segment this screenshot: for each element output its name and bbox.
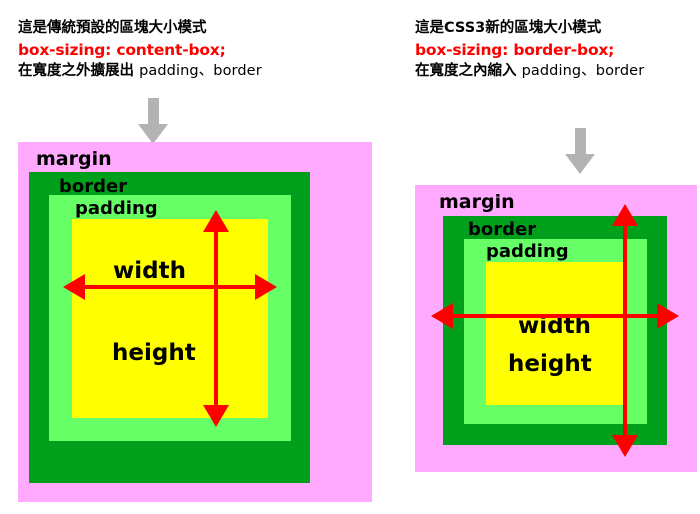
- caption-line-3: 在寬度之外擴展出 padding、border: [18, 61, 262, 82]
- border-label: border: [59, 178, 127, 196]
- margin-label: margin: [36, 150, 112, 169]
- gray-down-arrow-icon: [138, 98, 168, 144]
- border-box: border padding: [29, 172, 310, 483]
- height-label: height: [508, 353, 592, 376]
- caption-line-3-en: padding、border: [139, 63, 262, 79]
- height-label: height: [112, 342, 196, 365]
- arrow-head: [138, 124, 168, 144]
- panel-content-box: 這是傳統預設的區塊大小模式 box-sizing: content-box; 在…: [0, 0, 400, 514]
- height-arrow-line: [623, 214, 627, 447]
- margin-box: margin border padding: [18, 142, 372, 502]
- caption-code-declaration: box-sizing: content-box;: [18, 39, 262, 61]
- height-measure-arrow: [201, 210, 231, 427]
- content-box: width height: [72, 219, 268, 418]
- arrow-shaft: [148, 98, 159, 126]
- caption-border-box: 這是CSS3新的區塊大小模式 box-sizing: border-box; 在…: [415, 18, 644, 81]
- width-arrow-line: [73, 285, 267, 289]
- height-arrow-bottom-tip: [612, 435, 638, 457]
- padding-box: padding width: [49, 195, 291, 441]
- caption-line-3-zh: 在寬度之外擴展出: [18, 63, 139, 79]
- caption-line-3-zh: 在寬度之內縮入: [415, 63, 522, 79]
- margin-box: margin border padding width: [415, 185, 697, 472]
- caption-line-1: 這是傳統預設的區塊大小模式: [18, 18, 262, 39]
- gray-down-arrow-icon: [565, 128, 595, 174]
- content-box: width: [486, 262, 626, 405]
- caption-content-box: 這是傳統預設的區塊大小模式 box-sizing: content-box; 在…: [18, 18, 262, 81]
- caption-line-3: 在寬度之內縮入 padding、border: [415, 61, 644, 82]
- arrow-shaft: [575, 128, 586, 156]
- caption-line-3-en: padding、border: [522, 63, 645, 79]
- padding-label: padding: [75, 200, 158, 218]
- panel-border-box: 這是CSS3新的區塊大小模式 box-sizing: border-box; 在…: [400, 0, 700, 514]
- padding-label: padding: [486, 243, 569, 261]
- arrow-head: [565, 154, 595, 174]
- caption-code-declaration: box-sizing: border-box;: [415, 39, 644, 61]
- width-measure-arrow: [431, 301, 679, 331]
- height-measure-arrow: [610, 204, 640, 457]
- margin-label: margin: [439, 193, 515, 212]
- caption-line-1: 這是CSS3新的區塊大小模式: [415, 18, 644, 39]
- width-label: width: [113, 260, 186, 283]
- height-arrow-line: [214, 220, 218, 417]
- height-arrow-bottom-tip: [203, 405, 229, 427]
- width-arrow-right-tip: [657, 303, 679, 329]
- border-label: border: [468, 221, 536, 239]
- width-arrow-right-tip: [255, 274, 277, 300]
